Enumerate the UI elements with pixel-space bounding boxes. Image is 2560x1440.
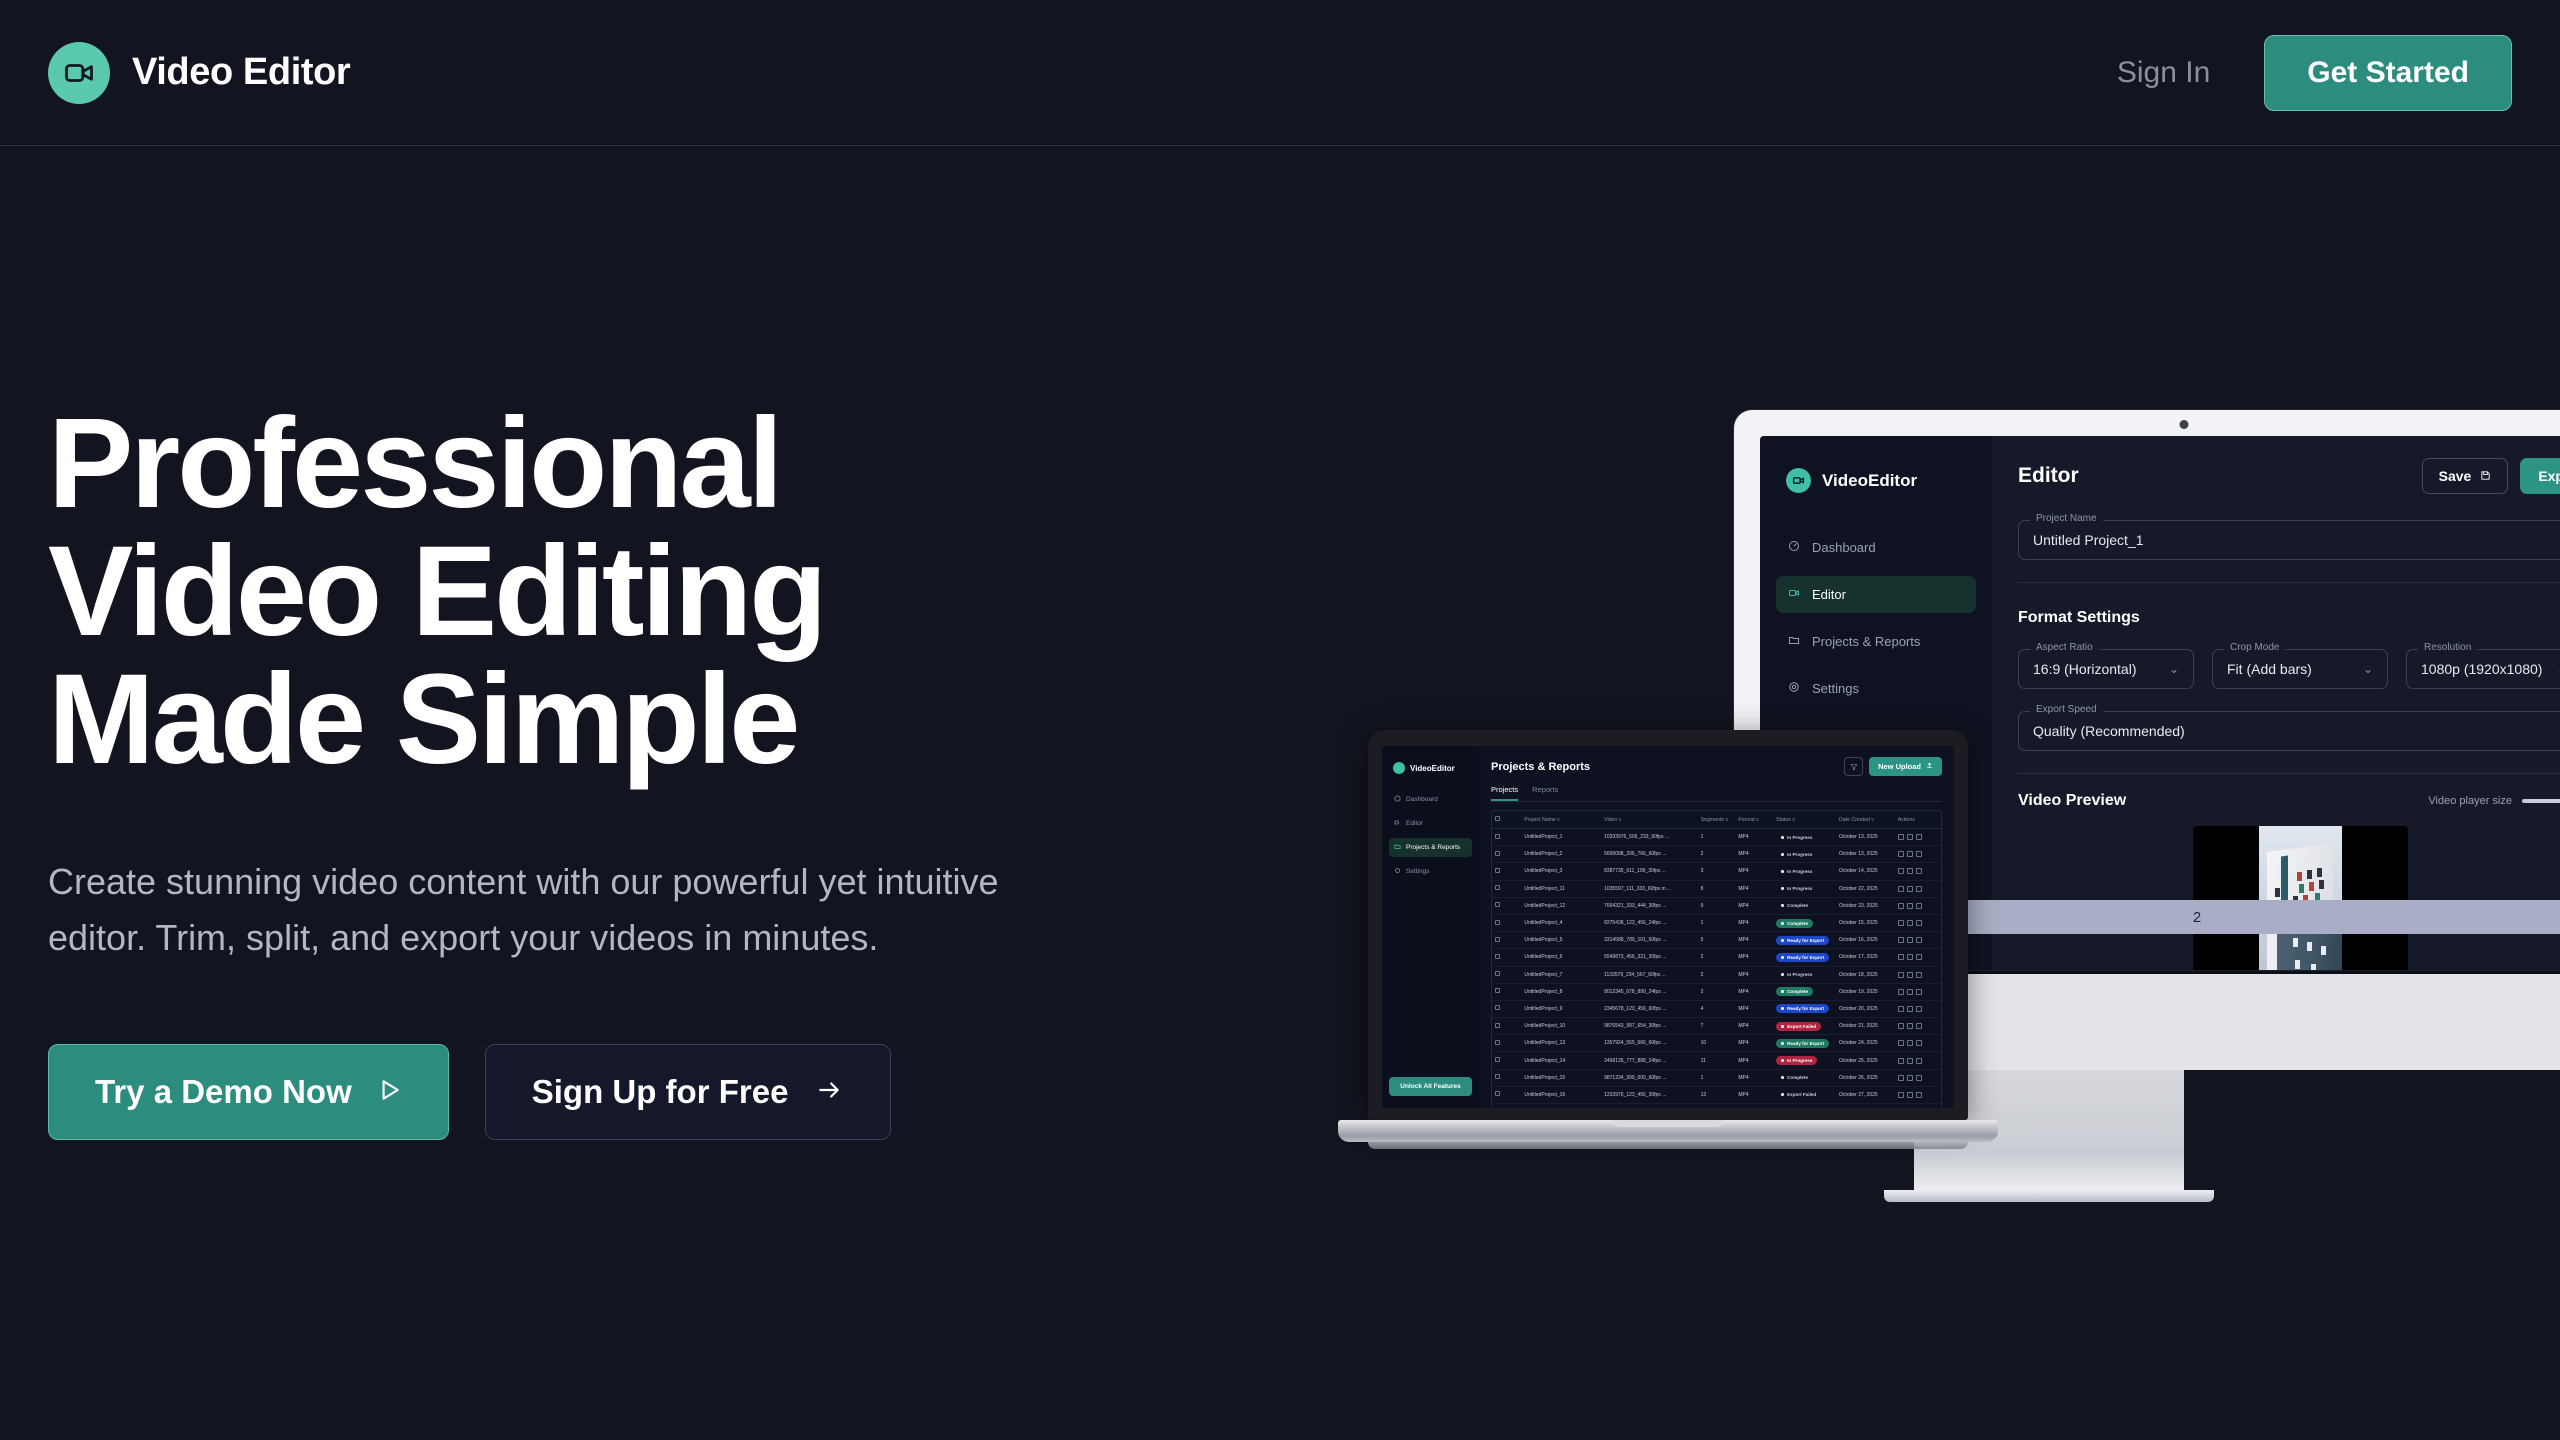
delete-icon[interactable]: [1916, 972, 1922, 978]
folder-icon: [1788, 634, 1800, 649]
row-checkbox[interactable]: [1495, 988, 1500, 993]
divider: [2018, 582, 2560, 583]
delete-icon[interactable]: [1916, 834, 1922, 840]
delete-icon[interactable]: [1916, 886, 1922, 892]
project-name-field[interactable]: Project Name Untitled Project_1: [2018, 520, 2560, 560]
edit-icon[interactable]: [1898, 920, 1904, 926]
sidebar-item-dashboard[interactable]: Dashboard: [1776, 529, 1976, 566]
player-size-slider[interactable]: [2522, 799, 2560, 803]
sort-icon: ⇅: [1557, 817, 1560, 822]
download-icon[interactable]: [1907, 903, 1913, 909]
row-select[interactable]: [1492, 880, 1521, 897]
export-speed-value: Quality (Recommended): [2033, 723, 2185, 739]
sort-icon: ⇅: [1756, 817, 1759, 822]
delete-icon[interactable]: [1916, 1058, 1922, 1064]
new-upload-label: New Upload: [1878, 762, 1921, 771]
row-checkbox[interactable]: [1495, 1091, 1500, 1096]
player-size-label: Video player size: [2428, 795, 2512, 807]
projects-toolbar-actions: New Upload: [1844, 757, 1942, 776]
export-speed-select[interactable]: Export Speed Quality (Recommended) ⌄: [2018, 711, 2560, 751]
status-badge: Complete: [1776, 901, 1813, 910]
table-row[interactable]: UntitledProject_88012345_678_890_24fps .…: [1492, 983, 1941, 1000]
row-select[interactable]: [1492, 1052, 1521, 1069]
format-fields-row-2: Export Speed Quality (Recommended) ⌄: [2018, 689, 2560, 751]
row-checkbox[interactable]: [1495, 1074, 1500, 1079]
cell-status: In Progress: [1773, 863, 1836, 880]
resolution-select[interactable]: Resolution 1080p (1920x1080) ⌄: [2406, 649, 2560, 689]
cell-status: Ready for Export: [1773, 1104, 1836, 1109]
status-badge: Export Failed: [1776, 1090, 1821, 1099]
download-icon[interactable]: [1907, 1023, 1913, 1029]
video-preview-title: Video Preview: [2018, 792, 2126, 810]
cell-actions: [1895, 1052, 1941, 1069]
get-started-button[interactable]: Get Started: [2264, 35, 2512, 111]
player-size-control[interactable]: Video player size: [2428, 795, 2560, 807]
hero-title-line-1: Professional: [48, 400, 1228, 528]
select-all-checkbox[interactable]: [1495, 816, 1500, 821]
cell-video: 3314588_789_101_60fps ...: [1601, 932, 1698, 949]
cell-project-name: UntitledProject_3: [1521, 863, 1601, 880]
delete-icon[interactable]: [1916, 1075, 1922, 1081]
cell-date-created: October 17, 2025: [1836, 949, 1895, 966]
cell-project-name: UntitledProject_2: [1521, 846, 1601, 863]
row-select[interactable]: [1492, 829, 1521, 846]
notch: [1625, 730, 1711, 744]
cell-segments: 9: [1698, 897, 1736, 914]
delete-icon[interactable]: [1916, 920, 1922, 926]
row-checkbox[interactable]: [1495, 1040, 1500, 1045]
cell-format: MP4: [1735, 1035, 1773, 1052]
editor-toolbar: Editor Save Exp: [2018, 458, 2560, 494]
try-demo-button[interactable]: Try a Demo Now: [48, 1044, 449, 1140]
cell-segments: 8: [1698, 880, 1736, 897]
delete-icon[interactable]: [1916, 1040, 1922, 1046]
projects-brand[interactable]: VideoEditor: [1393, 762, 1472, 774]
video-camera-icon: [1393, 762, 1405, 774]
cell-format: MP4: [1735, 880, 1773, 897]
monitor-foot: [1884, 1190, 2214, 1202]
edit-icon[interactable]: [1898, 1075, 1904, 1081]
chevron-down-icon: ⌄: [2169, 662, 2179, 676]
edit-icon[interactable]: [1898, 1023, 1904, 1029]
hero-cta-group: Try a Demo Now Sign Up for Free: [48, 1044, 1228, 1140]
new-upload-button[interactable]: New Upload: [1869, 757, 1942, 776]
editor-brand-label: VideoEditor: [1822, 471, 1917, 491]
cell-date-created: October 26, 2025: [1836, 1069, 1895, 1086]
row-select[interactable]: [1492, 932, 1521, 949]
column-project-name[interactable]: Project Name⇅: [1521, 811, 1601, 829]
sidebar-label: Settings: [1406, 868, 1430, 875]
video-preview-header: Video Preview Video player size: [2018, 792, 2560, 810]
laptop-lid: VideoEditor Dashboard Editor: [1368, 730, 1968, 1120]
cell-actions: [1895, 1104, 1941, 1109]
column-segments[interactable]: Segments⇅: [1698, 811, 1736, 829]
edit-icon[interactable]: [1898, 851, 1904, 857]
table-row[interactable]: UntitledProject_142468135_777_888_24fps …: [1492, 1052, 1941, 1069]
table-row[interactable]: UntitledProject_92345678_123_456_60fps .…: [1492, 1000, 1941, 1017]
cell-status: Export Failed: [1773, 1018, 1836, 1035]
video-player-preview[interactable]: [2193, 826, 2408, 970]
sidebar-item-editor[interactable]: Editor: [1776, 576, 1976, 613]
table-row[interactable]: UntitledProject_38387735_611_199_30fps .…: [1492, 863, 1941, 880]
cell-format: MP4: [1735, 1000, 1773, 1017]
sort-icon: ⇅: [1725, 817, 1728, 822]
cell-format: MP4: [1735, 1069, 1773, 1086]
cell-actions: [1895, 914, 1941, 931]
download-icon[interactable]: [1907, 886, 1913, 892]
cell-video: 7654321_333_444_30fps ...: [1601, 897, 1698, 914]
upload-icon: [1926, 762, 1933, 771]
edit-icon[interactable]: [1898, 989, 1904, 995]
sign-up-button[interactable]: Sign Up for Free: [485, 1044, 892, 1140]
preview-image: [2259, 826, 2342, 970]
delete-icon[interactable]: [1916, 868, 1922, 874]
hero-subtitle-line-1: Create stunning video content with our p…: [48, 854, 1148, 910]
floppy-disk-icon: [2480, 468, 2491, 484]
camera-icon: [2180, 420, 2189, 429]
row-select[interactable]: [1492, 1069, 1521, 1086]
resolution-legend: Resolution: [2418, 642, 2477, 653]
aspect-ratio-value: 16:9 (Horizontal): [2033, 661, 2137, 677]
download-icon[interactable]: [1907, 1058, 1913, 1064]
cell-date-created: October 16, 2025: [1836, 932, 1895, 949]
table-row[interactable]: UntitledProject_111035597_111_333_60fps …: [1492, 880, 1941, 897]
cell-project-name: UntitledProject_12: [1521, 897, 1601, 914]
download-icon[interactable]: [1907, 1040, 1913, 1046]
row-select[interactable]: [1492, 949, 1521, 966]
sidebar-item-projects-reports[interactable]: Projects & Reports: [1776, 623, 1976, 660]
column-format[interactable]: Format⇅: [1735, 811, 1773, 829]
table-row[interactable]: UntitledProject_109876543_987_654_30fps …: [1492, 1018, 1941, 1035]
sidebar-item-settings[interactable]: Settings: [1776, 670, 1976, 707]
projects-page-title: Projects & Reports: [1491, 761, 1590, 773]
arrow-right-icon: [814, 1073, 844, 1111]
sidebar-item-dashboard[interactable]: Dashboard: [1389, 790, 1472, 809]
download-icon[interactable]: [1907, 1092, 1913, 1098]
cell-project-name: UntitledProject_1: [1521, 829, 1601, 846]
status-badge: Ready for Export: [1776, 1039, 1829, 1048]
row-checkbox[interactable]: [1495, 1057, 1500, 1062]
edit-icon[interactable]: [1898, 903, 1904, 909]
gear-icon: [1394, 867, 1401, 876]
cell-format: MP4: [1735, 897, 1773, 914]
cell-date-created: October 28, 2025: [1836, 1104, 1895, 1109]
export-button[interactable]: Exp: [2520, 458, 2560, 494]
status-badge: Complete: [1776, 987, 1813, 996]
download-icon[interactable]: [1907, 989, 1913, 995]
column-video[interactable]: Video⇅: [1601, 811, 1698, 829]
cell-status: In Progress: [1773, 829, 1836, 846]
projects-table: Project Name⇅ Video⇅ Segments⇅ Format⇅ S…: [1492, 811, 1941, 1108]
cell-project-name: UntitledProject_13: [1521, 1035, 1601, 1052]
cell-project-name: UntitledProject_14: [1521, 1052, 1601, 1069]
status-badge: In Progress: [1776, 833, 1817, 842]
table-row[interactable]: UntitledProject_161233976_123_456_30fps …: [1492, 1086, 1941, 1103]
cell-actions: [1895, 846, 1941, 863]
row-checkbox[interactable]: [1495, 885, 1500, 890]
edit-icon[interactable]: [1898, 868, 1904, 874]
table-row[interactable]: UntitledProject_53314588_789_101_60fps .…: [1492, 932, 1941, 949]
cell-video: 8387735_611_199_30fps ...: [1601, 863, 1698, 880]
cell-video: 2468135_777_888_24fps ...: [1601, 1052, 1698, 1069]
table-row[interactable]: UntitledProject_131357924_555_666_60fps …: [1492, 1035, 1941, 1052]
row-select[interactable]: [1492, 1104, 1521, 1109]
table-row[interactable]: UntitledProject_110333976_506_233_60fps …: [1492, 829, 1941, 846]
edit-icon[interactable]: [1898, 834, 1904, 840]
cell-segments: 1: [1698, 1069, 1736, 1086]
sidebar-label: Settings: [1812, 681, 1859, 696]
table-header: Project Name⇅ Video⇅ Segments⇅ Format⇅ S…: [1492, 811, 1941, 829]
cell-date-created: October 18, 2025: [1836, 966, 1895, 983]
cell-video: 8012345_678_890_24fps ...: [1601, 983, 1698, 1000]
projects-brand-label: VideoEditor: [1410, 764, 1455, 773]
cell-date-created: October 15, 2025: [1836, 914, 1895, 931]
delete-icon[interactable]: [1916, 851, 1922, 857]
column-actions: Actions: [1895, 811, 1941, 829]
cell-format: MP4: [1735, 1104, 1773, 1109]
edit-icon[interactable]: [1898, 972, 1904, 978]
cell-actions: [1895, 983, 1941, 1000]
cell-format: MP4: [1735, 949, 1773, 966]
cell-status: Complete: [1773, 897, 1836, 914]
cell-actions: [1895, 1018, 1941, 1035]
save-button[interactable]: Save: [2422, 458, 2509, 494]
cell-status: Complete: [1773, 914, 1836, 931]
cell-project-name: UntitledProject_17: [1521, 1104, 1601, 1109]
editor-toolbar-actions: Save Exp: [2422, 458, 2560, 494]
row-checkbox[interactable]: [1495, 954, 1500, 959]
brand-logo[interactable]: Video Editor: [48, 42, 350, 104]
cell-date-created: October 13, 2025: [1836, 846, 1895, 863]
cell-video: 1357924_555_666_60fps ...: [1601, 1035, 1698, 1052]
projects-tabs: Projects Reports: [1491, 785, 1942, 802]
row-checkbox[interactable]: [1495, 834, 1500, 839]
row-checkbox[interactable]: [1495, 902, 1500, 907]
tab-reports[interactable]: Reports: [1532, 785, 1558, 801]
cell-video: 9876543_987_654_30fps ...: [1601, 1018, 1698, 1035]
gauge-icon: [1788, 540, 1800, 555]
format-settings-title: Format Settings: [2018, 609, 2560, 627]
cell-format: MP4: [1735, 932, 1773, 949]
row-checkbox[interactable]: [1495, 937, 1500, 942]
status-badge: In Progress: [1776, 970, 1817, 979]
delete-icon[interactable]: [1916, 903, 1922, 909]
download-icon[interactable]: [1907, 1075, 1913, 1081]
sidebar-item-editor[interactable]: Editor: [1389, 814, 1472, 833]
row-checkbox[interactable]: [1495, 868, 1500, 873]
project-name-value: Untitled Project_1: [2033, 532, 2144, 548]
unlock-all-features-button[interactable]: Unlock All Features: [1389, 1077, 1472, 1096]
row-select[interactable]: [1492, 914, 1521, 931]
download-icon[interactable]: [1907, 851, 1913, 857]
cell-segments: 2: [1698, 966, 1736, 983]
cell-format: MP4: [1735, 914, 1773, 931]
edit-icon[interactable]: [1898, 1092, 1904, 1098]
edit-icon[interactable]: [1898, 886, 1904, 892]
status-badge: Ready for Export: [1776, 953, 1829, 962]
row-select[interactable]: [1492, 846, 1521, 863]
delete-icon[interactable]: [1916, 1023, 1922, 1029]
brand-name: Video Editor: [132, 51, 350, 94]
cell-status: Ready for Export: [1773, 932, 1836, 949]
laptop-mockup: VideoEditor Dashboard Editor: [1368, 730, 1968, 1149]
download-icon[interactable]: [1907, 920, 1913, 926]
cell-date-created: October 25, 2025: [1836, 1052, 1895, 1069]
cell-date-created: October 27, 2025: [1836, 1086, 1895, 1103]
sort-icon: ⇅: [1792, 817, 1795, 822]
status-badge: Complete: [1776, 919, 1813, 928]
row-select[interactable]: [1492, 966, 1521, 983]
cell-project-name: UntitledProject_9: [1521, 1000, 1601, 1017]
row-select[interactable]: [1492, 1018, 1521, 1035]
column-date-created[interactable]: Date Created⇅: [1836, 811, 1895, 829]
cell-segments: 1: [1698, 1104, 1736, 1109]
cell-status: In Progress: [1773, 1052, 1836, 1069]
aspect-ratio-select[interactable]: Aspect Ratio 16:9 (Horizontal) ⌄: [2018, 649, 2194, 689]
sidebar-item-settings[interactable]: Settings: [1389, 862, 1472, 881]
edit-icon[interactable]: [1898, 1006, 1904, 1012]
cell-video: 1233976_123_456_30fps ...: [1601, 1086, 1698, 1103]
cell-segments: 5: [1698, 932, 1736, 949]
cell-format: MP4: [1735, 983, 1773, 1000]
cell-project-name: UntitledProject_15: [1521, 1069, 1601, 1086]
edit-icon[interactable]: [1898, 1058, 1904, 1064]
status-badge: Ready for Export: [1776, 1004, 1829, 1013]
table-row[interactable]: UntitledProject_65549873_456_321_30fps .…: [1492, 949, 1941, 966]
cell-video: 8275438_123_456_24fps ...: [1601, 914, 1698, 931]
video-camera-icon: [1394, 819, 1401, 828]
sidebar-label: Editor: [1406, 820, 1423, 827]
table-row[interactable]: UntitledProject_159871234_999_000_60fps …: [1492, 1069, 1941, 1086]
row-select[interactable]: [1492, 983, 1521, 1000]
cell-status: Ready for Export: [1773, 1000, 1836, 1017]
edit-icon[interactable]: [1898, 1040, 1904, 1046]
cell-status: Export Failed: [1773, 1086, 1836, 1103]
row-checkbox[interactable]: [1495, 920, 1500, 925]
editor-main: Editor Save Exp: [1992, 436, 2560, 970]
delete-icon[interactable]: [1916, 954, 1922, 960]
cell-format: MP4: [1735, 1086, 1773, 1103]
row-checkbox[interactable]: [1495, 971, 1500, 976]
projects-sidebar: VideoEditor Dashboard Editor: [1382, 746, 1479, 1108]
table-body: UntitledProject_110333976_506_233_60fps …: [1492, 829, 1941, 1109]
download-icon[interactable]: [1907, 954, 1913, 960]
cell-video: 10333976_506_233_60fps ...: [1601, 829, 1698, 846]
cell-actions: [1895, 1035, 1941, 1052]
cell-actions: [1895, 880, 1941, 897]
row-select[interactable]: [1492, 863, 1521, 880]
edit-icon[interactable]: [1898, 954, 1904, 960]
cell-segments: 1: [1698, 829, 1736, 846]
sidebar-item-projects-reports[interactable]: Projects & Reports: [1389, 838, 1472, 857]
row-select[interactable]: [1492, 897, 1521, 914]
cell-actions: [1895, 829, 1941, 846]
delete-icon[interactable]: [1916, 937, 1922, 943]
cell-date-created: October 14, 2025: [1836, 863, 1895, 880]
cell-status: Complete: [1773, 1069, 1836, 1086]
table-row[interactable]: UntitledProject_127654321_333_444_30fps …: [1492, 897, 1941, 914]
table-row[interactable]: UntitledProject_25699098_206_766_60fps .…: [1492, 846, 1941, 863]
cell-format: MP4: [1735, 829, 1773, 846]
try-demo-label: Try a Demo Now: [95, 1073, 352, 1111]
cell-video: 5567890_654_321_60fps ...: [1601, 1104, 1698, 1109]
row-select[interactable]: [1492, 1035, 1521, 1052]
folder-icon: [1394, 843, 1401, 852]
cell-video: 2345678_123_456_60fps ...: [1601, 1000, 1698, 1017]
row-checkbox[interactable]: [1495, 1005, 1500, 1010]
cell-date-created: October 21, 2025: [1836, 1018, 1895, 1035]
cell-video: 5549873_456_321_30fps ...: [1601, 949, 1698, 966]
cell-segments: 2: [1698, 983, 1736, 1000]
row-checkbox[interactable]: [1495, 851, 1500, 856]
table-row[interactable]: UntitledProject_48275438_123_456_24fps .…: [1492, 914, 1941, 931]
cell-status: In Progress: [1773, 846, 1836, 863]
row-checkbox[interactable]: [1495, 1023, 1500, 1028]
status-badge: In Progress: [1776, 850, 1817, 859]
cell-status: Ready for Export: [1773, 949, 1836, 966]
laptop-foot: [1368, 1142, 1968, 1149]
projects-main: Projects & Reports New Upload: [1479, 746, 1954, 1108]
cell-project-name: UntitledProject_10: [1521, 1018, 1601, 1035]
download-icon[interactable]: [1907, 868, 1913, 874]
divider: [2018, 773, 2560, 774]
header-actions: Sign In Get Started: [2117, 35, 2512, 111]
cell-segments: 3: [1698, 863, 1736, 880]
delete-icon[interactable]: [1916, 1006, 1922, 1012]
row-select[interactable]: [1492, 1086, 1521, 1103]
cell-project-name: UntitledProject_16: [1521, 1086, 1601, 1103]
hero-subtitle-line-2: editor. Trim, split, and export your vid…: [48, 910, 1148, 966]
cell-project-name: UntitledProject_4: [1521, 914, 1601, 931]
projects-table-wrapper: Project Name⇅ Video⇅ Segments⇅ Format⇅ S…: [1491, 810, 1942, 1108]
download-icon[interactable]: [1907, 937, 1913, 943]
column-select[interactable]: [1492, 811, 1521, 829]
projects-toolbar: Projects & Reports New Upload: [1491, 757, 1942, 776]
edit-icon[interactable]: [1898, 937, 1904, 943]
cell-segments: 4: [1698, 1000, 1736, 1017]
funnel-icon[interactable]: [1844, 757, 1863, 776]
status-badge: In Progress: [1776, 884, 1817, 893]
editor-page-title: Editor: [2018, 464, 2079, 488]
status-badge: In Progress: [1776, 867, 1817, 876]
video-camera-icon: [48, 42, 110, 104]
crop-mode-value: Fit (Add bars): [2227, 661, 2312, 677]
cell-project-name: UntitledProject_8: [1521, 983, 1601, 1000]
column-status[interactable]: Status⇅: [1773, 811, 1836, 829]
gear-icon: [1788, 681, 1800, 696]
table-row[interactable]: UntitledProject_71133579_234_567_60fps .…: [1492, 966, 1941, 983]
cell-project-name: UntitledProject_6: [1521, 949, 1601, 966]
download-icon[interactable]: [1907, 972, 1913, 978]
sign-in-link[interactable]: Sign In: [2117, 56, 2210, 90]
delete-icon[interactable]: [1916, 989, 1922, 995]
cell-actions: [1895, 863, 1941, 880]
sidebar-label: Projects & Reports: [1406, 844, 1460, 851]
editor-brand[interactable]: VideoEditor: [1786, 468, 1976, 493]
crop-mode-select[interactable]: Crop Mode Fit (Add bars) ⌄: [2212, 649, 2388, 689]
site-header: Video Editor Sign In Get Started: [0, 0, 2560, 146]
cell-format: MP4: [1735, 1052, 1773, 1069]
download-icon[interactable]: [1907, 1006, 1913, 1012]
table-row[interactable]: UntitledProject_175567890_654_321_60fps …: [1492, 1104, 1941, 1109]
tab-projects[interactable]: Projects: [1491, 785, 1518, 801]
status-badge: Complete: [1776, 1073, 1813, 1082]
delete-icon[interactable]: [1916, 1092, 1922, 1098]
status-badge: Export Failed: [1776, 1022, 1821, 1031]
cell-video: 5699098_206_766_60fps ...: [1601, 846, 1698, 863]
row-select[interactable]: [1492, 1000, 1521, 1017]
download-icon[interactable]: [1907, 834, 1913, 840]
